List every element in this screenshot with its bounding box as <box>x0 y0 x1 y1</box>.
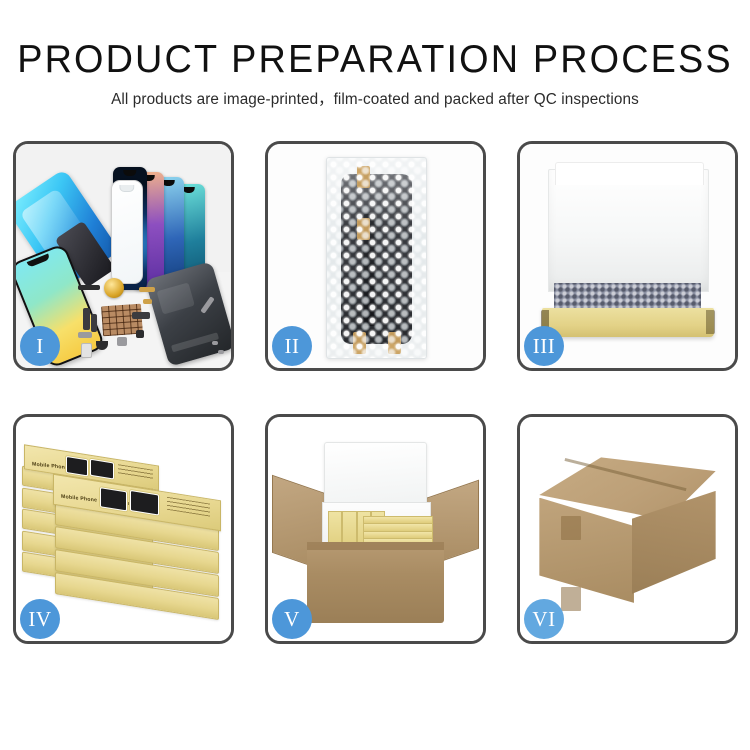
process-step-panel-6: VI <box>517 414 738 644</box>
small-part-bracket <box>78 332 92 338</box>
screw-part <box>212 341 218 345</box>
box-window-image <box>91 459 114 480</box>
box-spec-text <box>119 464 154 480</box>
foam-sheet <box>548 169 709 292</box>
process-step-panel-3: III <box>517 141 738 371</box>
yellow-inner-box <box>542 308 714 337</box>
gold-connector-part <box>143 299 152 304</box>
page-title: PRODUCT PREPARATION PROCESS <box>11 0 739 80</box>
flex-cable-part <box>83 308 90 330</box>
tempered-glass-protector <box>111 180 143 284</box>
notch-icon <box>26 253 50 267</box>
foam-lid-open <box>324 442 427 511</box>
small-part-strip <box>78 285 100 290</box>
screw-part <box>218 350 224 354</box>
process-step-panel-1: I <box>13 141 234 371</box>
carton-body <box>307 542 445 623</box>
process-step-panel-2: II <box>265 141 486 371</box>
box-stack: Mobile Phone Spare Parts Mobile Phone Sp… <box>22 444 224 623</box>
box-spec-text <box>166 497 209 516</box>
process-step-panel-4: Mobile Phone Spare Parts Mobile Phone Sp… <box>13 414 234 644</box>
page-header: PRODUCT PREPARATION PROCESS All products… <box>0 0 750 109</box>
carton-tape <box>561 516 581 540</box>
flex-cable-part <box>91 314 97 332</box>
step-badge-6: VI <box>524 599 564 639</box>
flex-cable-part <box>132 312 150 319</box>
box-window-image <box>67 456 89 476</box>
notch-icon <box>123 170 136 176</box>
gold-connector-part <box>139 287 155 292</box>
step-badge-5: V <box>272 599 312 639</box>
process-step-panel-5: V <box>265 414 486 644</box>
bubble-wrap-bag <box>326 157 427 358</box>
step-badge-3: III <box>524 326 564 366</box>
step-badge-4: IV <box>20 599 60 639</box>
carton-tape <box>561 587 581 611</box>
notch-icon <box>119 185 134 192</box>
page-subtitle: All products are image-printed，film-coat… <box>0 80 750 109</box>
step-badge-1: I <box>20 326 60 366</box>
small-part-button <box>136 330 144 338</box>
small-part-white <box>81 343 92 358</box>
notch-icon <box>183 187 196 193</box>
small-part-bracket <box>117 337 127 346</box>
box-window-image <box>130 490 159 515</box>
step-badge-2: II <box>272 326 312 366</box>
process-step-grid: I II III <box>13 141 739 644</box>
box-window-image <box>100 487 127 512</box>
bubble-texture-overlay <box>327 158 426 357</box>
